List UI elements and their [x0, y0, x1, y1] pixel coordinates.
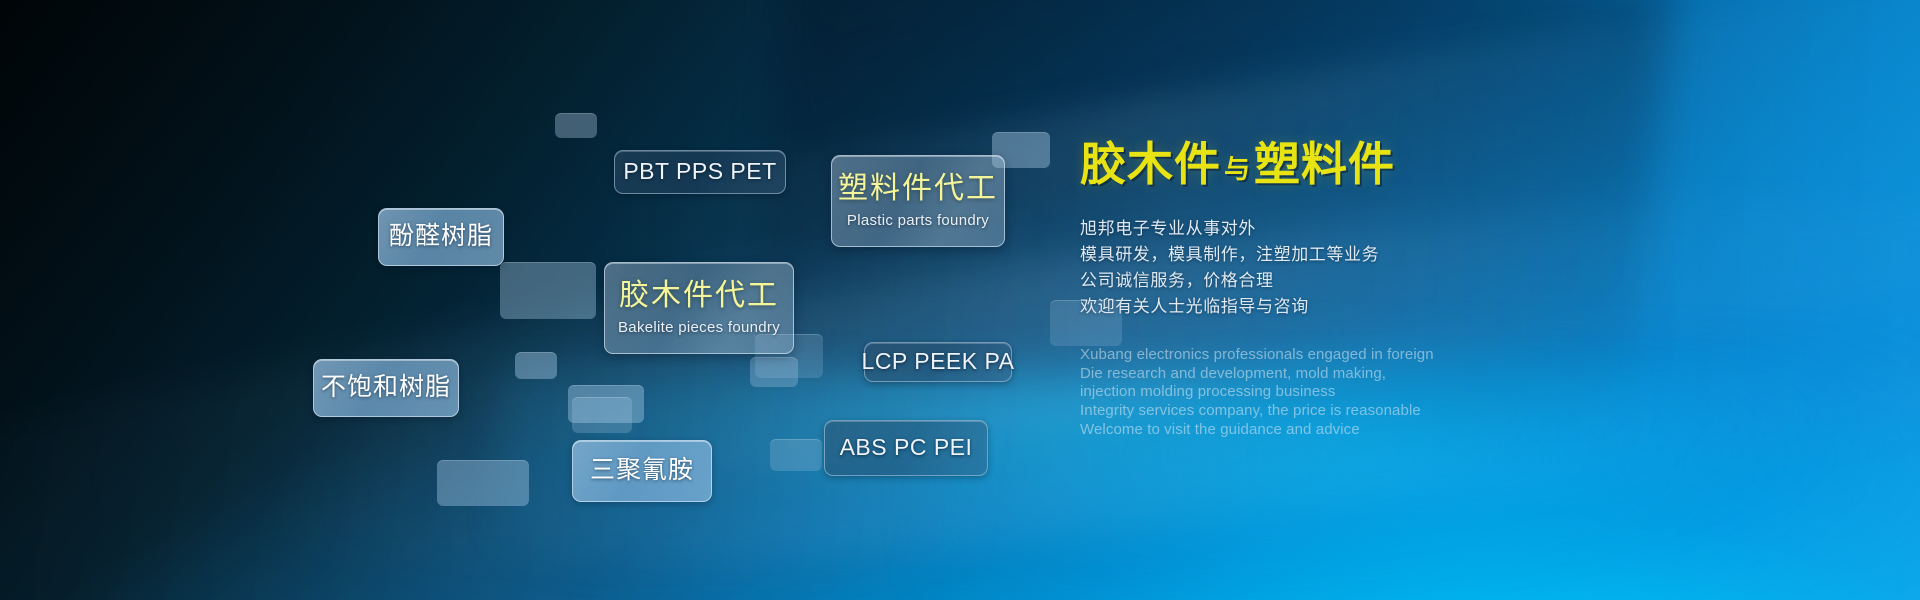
decorative-square — [750, 357, 798, 387]
chinese-description: 旭邦电子专业从事对外 模具研发，模具制作，注塑加工等业务 公司诚信服务，价格合理… — [1080, 216, 1840, 320]
english-line: Die research and development, mold makin… — [1080, 365, 1840, 384]
headline-part-2: 塑料件 — [1254, 138, 1395, 190]
chip-label-cn: 塑料件代工 — [838, 172, 998, 207]
chinese-line: 旭邦电子专业从事对外 — [1080, 216, 1840, 242]
english-line: Xubang electronics professionals engaged… — [1080, 346, 1840, 365]
chip-unsaturated-resin[interactable]: 不饱和树脂 — [313, 359, 459, 417]
banner-copy: 胶木件与塑料件 旭邦电子专业从事对外 模具研发，模具制作，注塑加工等业务 公司诚… — [1080, 140, 1840, 439]
banner-headline: 胶木件与塑料件 — [1080, 140, 1840, 188]
chip-lcp-peek-pa[interactable]: LCP PEEK PA — [864, 342, 1012, 382]
chip-label-en: Bakelite pieces foundry — [618, 319, 780, 337]
chip-phenolic-resin[interactable]: 酚醛树脂 — [378, 208, 504, 266]
chinese-line: 模具研发，模具制作，注塑加工等业务 — [1080, 242, 1840, 268]
chip-abs-pc-pei[interactable]: ABS PC PEI — [824, 420, 988, 476]
chip-melamine[interactable]: 三聚氰胺 — [572, 440, 712, 502]
chinese-line: 欢迎有关人士光临指导与咨询 — [1080, 294, 1840, 320]
chip-label: 不饱和树脂 — [321, 374, 451, 402]
decorative-square — [515, 352, 557, 379]
decorative-square — [555, 113, 597, 138]
chip-pbt-pps-pet[interactable]: PBT PPS PET — [614, 150, 786, 194]
chip-label: ABS PC PEI — [840, 435, 973, 460]
headline-part-1: 胶木件 — [1080, 138, 1221, 190]
decorative-square — [770, 439, 822, 471]
chinese-line: 公司诚信服务，价格合理 — [1080, 268, 1840, 294]
decorative-square — [437, 460, 529, 506]
chip-plastic-parts-foundry[interactable]: 塑料件代工 Plastic parts foundry — [831, 155, 1005, 247]
english-line: Integrity services company, the price is… — [1080, 402, 1840, 421]
background-light-sweep-3 — [0, 184, 1211, 600]
headline-conjunction: 与 — [1221, 154, 1254, 184]
chip-label: 酚醛树脂 — [389, 223, 493, 251]
english-line: Welcome to visit the guidance and advice — [1080, 421, 1840, 440]
chip-label-cn: 胶木件代工 — [619, 279, 779, 314]
decorative-square — [572, 397, 632, 433]
chip-label: PBT PPS PET — [623, 159, 776, 184]
chip-label: LCP PEEK PA — [862, 349, 1015, 374]
chip-bakelite-pieces-foundry[interactable]: 胶木件代工 Bakelite pieces foundry — [604, 262, 794, 354]
chip-label: 三聚氰胺 — [590, 457, 694, 485]
decorative-square — [500, 262, 596, 319]
decorative-square — [568, 385, 644, 423]
english-description: Xubang electronics professionals engaged… — [1080, 346, 1840, 439]
hero-banner: 酚醛树脂 不饱和树脂 三聚氰胺 PBT PPS PET LCP PEEK PA … — [0, 0, 1920, 600]
chip-label-en: Plastic parts foundry — [847, 212, 989, 230]
english-line: injection molding processing business — [1080, 383, 1840, 402]
